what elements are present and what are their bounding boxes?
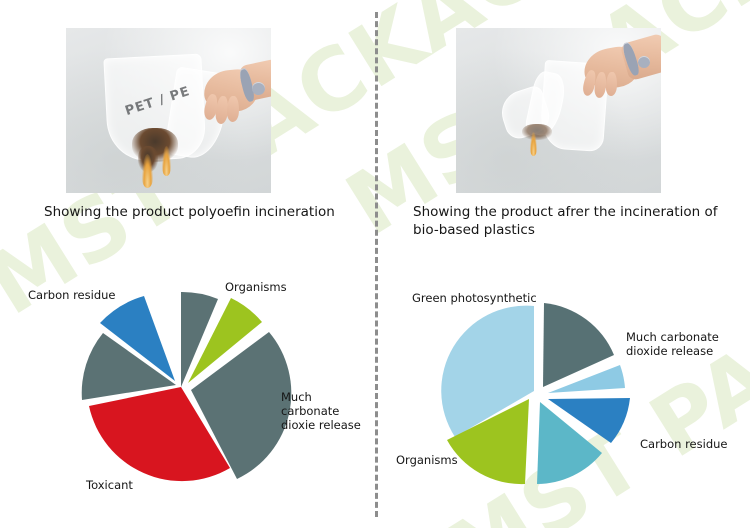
pie-label-toxicant-left: Toxicant [86,478,133,492]
caption-right: Showing the product afrer the incinerati… [413,203,725,239]
pie-slices-left [82,292,292,481]
residue-mark [522,124,552,140]
pie-label-carbon-residue-left: Carbon residue [28,288,116,302]
caption-left: Showing the product polyoefin incinerati… [44,203,364,221]
pie-label-organisms-left: Organisms [225,280,287,294]
photo-biobased-incineration [456,28,661,193]
panel-divider [375,12,378,517]
pie-slices-right [441,303,630,484]
pie-label-co2-left: Much carbonate dioxie release [281,390,373,432]
pie-label-green-photosynthetic-right: Green photosynthetic [412,291,537,305]
pie-label-co2-right: Much carbonate dioxide release [626,330,726,358]
pie-label-carbon-residue-right: Carbon residue [640,437,728,451]
wrist-band [638,56,650,68]
poster-canvas: MST PACKAGING MST PACKAGING MST PACKAGIN… [0,0,750,528]
photo-polyolefin-incineration: PET / PE [66,28,271,193]
wrist-band [252,82,265,95]
pie-label-organisms-right: Organisms [396,453,458,467]
pie-chart-polyolefin [60,275,310,490]
